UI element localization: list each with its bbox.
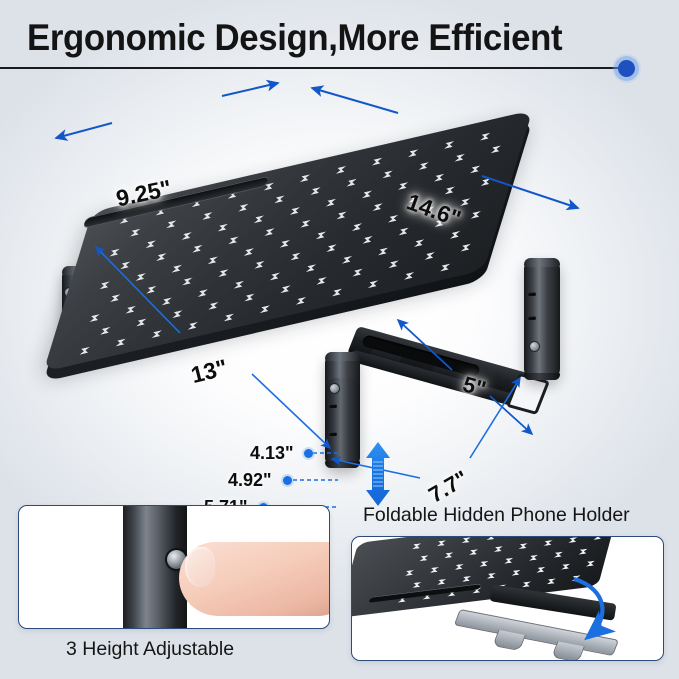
height-step-label-1: 4.13" [250,443,294,464]
header-divider [0,67,625,69]
vent-hole [419,555,428,561]
vent-hole [511,536,520,537]
panel-caption-phone-holder: Foldable Hidden Phone Holder [363,504,630,527]
arrow-9-25-right [222,83,278,96]
vent-hole [543,540,552,546]
arrow-13-down [252,374,330,448]
vent-hole [519,543,528,549]
leg-height-hole [528,292,536,296]
leg-screw-icon [330,384,339,393]
page-title: Ergonomic Design,More Efficient [27,17,562,59]
vent-hole [593,536,602,540]
panel-phone-holder [351,536,664,661]
dimension-label-depth: 13" [188,354,230,389]
vent-hole [412,582,421,588]
vent-hole [554,552,563,558]
vent-hole [529,555,538,561]
vent-hole [469,549,478,555]
product-diagram: 9.25" 14.6" 13" 5" 7.7" 4.13" 4.92" 5.71… [0,78,679,490]
vent-hole [444,552,453,558]
monitor-stand-platform [46,106,576,354]
vent-hole [568,537,577,543]
panel-height-adjustable [18,505,330,629]
vent-hole [462,537,471,543]
vent-hole [437,579,446,585]
height-step-dot-1 [304,449,313,458]
dimension-label-holder-depth: 7.7" [424,465,473,508]
leg-height-hole [329,404,337,408]
header-divider-dot-icon [618,60,635,77]
monitor-stand-leg-right [524,258,560,380]
vent-hole [536,567,545,573]
vent-hole [412,543,421,549]
height-adjust-double-arrow-icon [366,442,390,506]
vent-hole [430,567,439,573]
vent-hole [579,549,588,555]
infographic-page: Ergonomic Design,More Efficient [0,0,679,679]
height-step-label-2: 4.92" [228,470,272,491]
platform-surface [43,110,532,372]
vent-hole [437,540,446,546]
vent-hole [571,575,580,581]
leg-cap [524,258,560,267]
panel-caption-height-adjustable: 3 Height Adjustable [66,638,234,661]
vent-hole [479,561,488,567]
vent-hole [561,564,570,570]
leg-foot [524,373,560,380]
vent-hole [462,576,471,582]
vent-hole [586,561,595,567]
leg-height-hole [528,316,536,320]
vent-hole [486,536,495,540]
monitor-stand-leg-front-adjustable [325,352,360,468]
leg-height-hole [329,432,337,436]
vent-hole [504,558,513,564]
leg-cap [325,352,360,361]
vent-hole [487,573,496,579]
leg-screw-icon [530,342,539,351]
vent-hole [494,546,503,552]
height-step-dot-2 [283,476,292,485]
fingernail [185,547,215,587]
vent-hole [405,570,414,576]
leg-foot [325,461,360,468]
vent-hole [454,564,463,570]
vent-hole [522,581,531,587]
vent-hole [511,570,520,576]
vent-hole [547,578,556,584]
